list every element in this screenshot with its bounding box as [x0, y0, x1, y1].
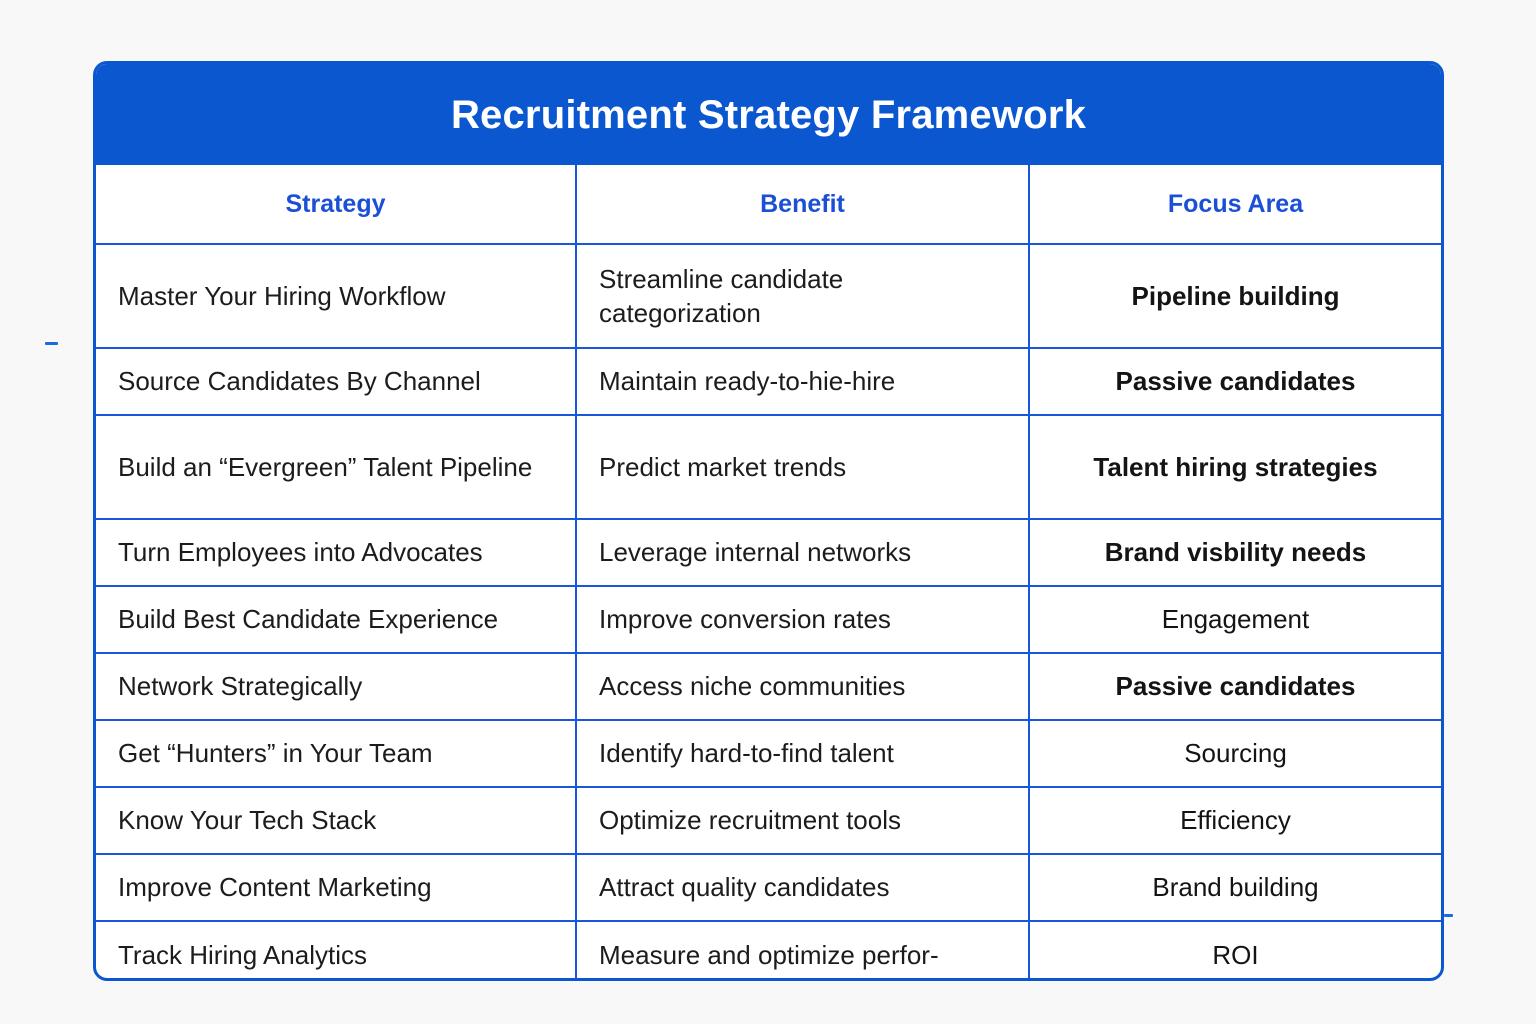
cell-focus-area: Brand visbility needs: [1029, 519, 1441, 586]
cell-benefit: Maintain ready-to-hie-hire: [576, 348, 1029, 415]
cell-strategy: Network Strategically: [96, 653, 576, 720]
cell-benefit: Improve conversion rates: [576, 586, 1029, 653]
cell-benefit: Attract quality candidates: [576, 854, 1029, 921]
cell-focus-area: Engagement: [1029, 586, 1441, 653]
column-header-strategy: Strategy: [96, 165, 576, 244]
table-row: Build an “Evergreen” Talent PipelinePred…: [96, 415, 1441, 519]
cell-focus-area: Brand building: [1029, 854, 1441, 921]
table-row: Track Hiring AnalyticsMeasure and optimi…: [96, 921, 1441, 981]
cell-strategy: Master Your Hiring Workflow: [96, 244, 576, 348]
table-row: Build Best Candidate ExperienceImprove c…: [96, 586, 1441, 653]
page-title: Recruitment Strategy Framework: [451, 95, 1086, 135]
cell-benefit: Identify hard-to-find talent: [576, 720, 1029, 787]
table-row: Know Your Tech StackOptimize recruitment…: [96, 787, 1441, 854]
cell-strategy: Get “Hunters” in Your Team: [96, 720, 576, 787]
table-row: Turn Employees into AdvocatesLeverage in…: [96, 519, 1441, 586]
cell-benefit: Leverage internal networks: [576, 519, 1029, 586]
table-row: Get “Hunters” in Your TeamIdentify hard-…: [96, 720, 1441, 787]
column-header-focus-area: Focus Area: [1029, 165, 1441, 244]
cell-benefit: Streamline candidate categorization: [576, 244, 1029, 348]
table-body: Master Your Hiring WorkflowStreamline ca…: [96, 244, 1441, 981]
cell-focus-area: Sourcing: [1029, 720, 1441, 787]
card-title-bar: Recruitment Strategy Framework: [96, 64, 1441, 165]
table-row: Master Your Hiring WorkflowStreamline ca…: [96, 244, 1441, 348]
framework-card: Recruitment Strategy Framework Strategy …: [93, 61, 1444, 981]
cell-focus-area: ROI: [1029, 921, 1441, 981]
cell-strategy: Build Best Candidate Experience: [96, 586, 576, 653]
cell-strategy: Track Hiring Analytics: [96, 921, 576, 981]
cell-focus-area: Passive candidates: [1029, 348, 1441, 415]
cell-strategy: Source Candidates By Channel: [96, 348, 576, 415]
cell-focus-area: Pipeline building: [1029, 244, 1441, 348]
cell-benefit: Measure and optimize perfor-: [576, 921, 1029, 981]
table-row: Improve Content MarketingAttract quality…: [96, 854, 1441, 921]
recruitment-strategy-table: Strategy Benefit Focus Area Master Your …: [96, 165, 1441, 981]
cell-focus-area: Talent hiring strategies: [1029, 415, 1441, 519]
cell-focus-area: Passive candidates: [1029, 653, 1441, 720]
table-row: Source Candidates By ChannelMaintain rea…: [96, 348, 1441, 415]
cell-benefit: Access niche communities: [576, 653, 1029, 720]
stray-tick-mark-right: [1444, 914, 1453, 917]
cell-focus-area: Efficiency: [1029, 787, 1441, 854]
cell-benefit: Predict market trends: [576, 415, 1029, 519]
cell-strategy: Build an “Evergreen” Talent Pipeline: [96, 415, 576, 519]
table-header: Strategy Benefit Focus Area: [96, 165, 1441, 244]
column-header-benefit: Benefit: [576, 165, 1029, 244]
table-row: Network StrategicallyAccess niche commun…: [96, 653, 1441, 720]
stray-tick-mark-left: [45, 342, 58, 345]
cell-benefit: Optimize recruitment tools: [576, 787, 1029, 854]
cell-strategy: Improve Content Marketing: [96, 854, 576, 921]
table-header-row: Strategy Benefit Focus Area: [96, 165, 1441, 244]
cell-strategy: Know Your Tech Stack: [96, 787, 576, 854]
cell-strategy: Turn Employees into Advocates: [96, 519, 576, 586]
